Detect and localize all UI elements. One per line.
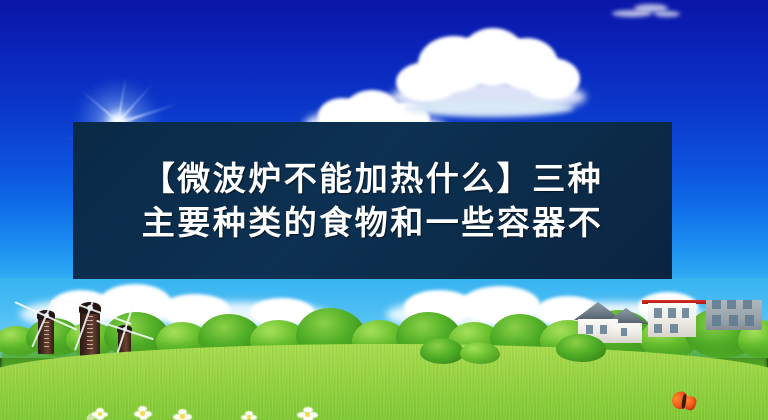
white-daisy — [172, 408, 200, 420]
title-line-2: 主要种类的食物和一些容器不 — [142, 201, 604, 245]
white-daisy — [240, 410, 266, 420]
banner-image: 【微波炉不能加热什么】三种 主要种类的食物和一些容器不 — [0, 0, 768, 420]
title-overlay-panel: 【微波炉不能加热什么】三种 主要种类的食物和一些容器不 — [73, 122, 672, 279]
white-daisy — [296, 406, 324, 420]
house-red-roof-far-right — [700, 300, 768, 352]
white-daisy — [86, 406, 112, 420]
white-daisy — [134, 404, 160, 420]
grass-texture — [0, 344, 768, 420]
orange-butterfly — [672, 390, 700, 416]
title-line-1: 【微波炉不能加热什么】三种 — [142, 157, 604, 201]
landscape — [0, 300, 768, 420]
